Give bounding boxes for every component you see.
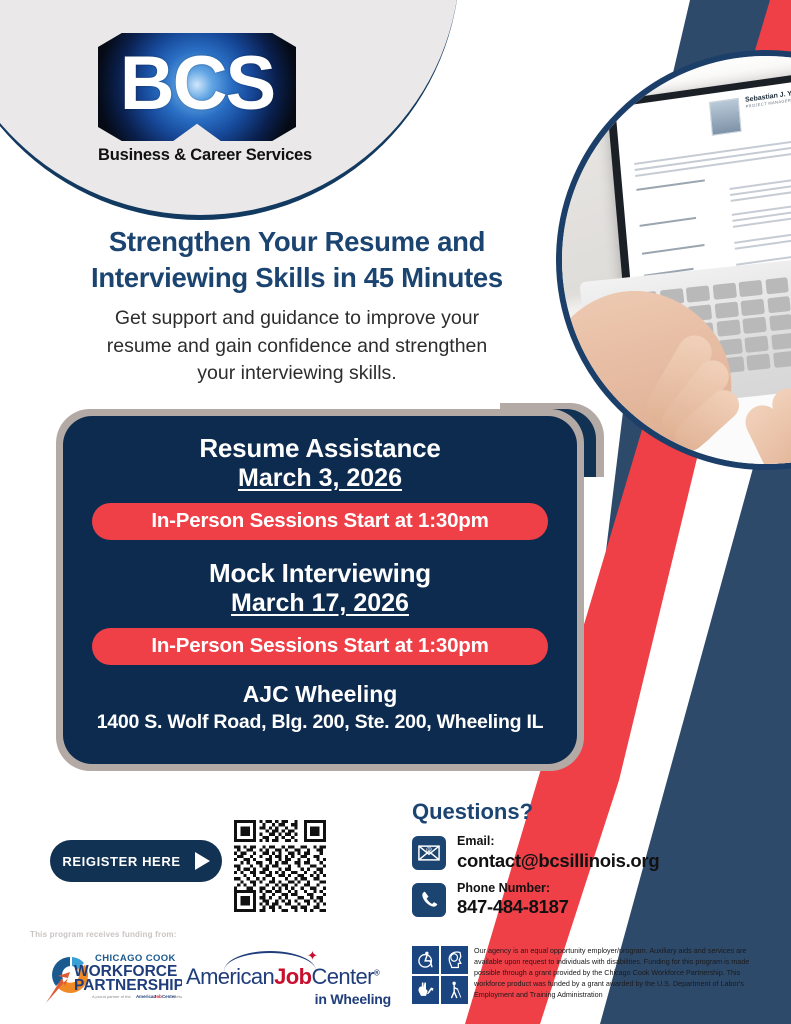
ajc-registered-mark: ® [374, 969, 379, 978]
svg-text:@: @ [426, 846, 432, 854]
event-1-session-badge: In-Person Sessions Start at 1:30pm [92, 503, 548, 540]
hearing-head-icon [441, 946, 468, 974]
headline-line-1: Strengthen Your Resume and [62, 224, 532, 260]
event-2-date: March 17, 2026 [81, 588, 559, 618]
workforce-logo-graphic: CHICAGO COOK WORKFORCE PARTNERSHIP A pro… [32, 945, 182, 1007]
bcs-logo-tagline: Business & Career Services [98, 146, 298, 165]
bcs-logo-mark: BCS [98, 33, 296, 141]
sign-language-icon [412, 976, 439, 1004]
venue-name: AJC Wheeling [81, 681, 559, 708]
event-details-card: Resume Assistance March 3, 2026 In-Perso… [56, 409, 584, 771]
bcs-logo: BCS Business & Career Services [98, 33, 298, 165]
envelope-icon: @ [418, 844, 440, 861]
event-2-session-badge: In-Person Sessions Start at 1:30pm [92, 628, 548, 665]
email-label: Email: [457, 834, 659, 850]
american-job-center-logo: ✦ AmericanJobCenter® in Wheeling [186, 950, 391, 1005]
email-icon: @ [412, 836, 446, 870]
phone-label: Phone Number: [457, 881, 569, 897]
chicago-cook-workforce-partnership-logo: CHICAGO COOK WORKFORCE PARTNERSHIP A pro… [32, 945, 182, 1007]
play-arrow-icon [195, 852, 210, 870]
ajc-swoosh-icon [224, 951, 316, 971]
event-2-title: Mock Interviewing [81, 558, 559, 588]
register-button-label: REIGISTER HERE [62, 854, 180, 869]
phone-contact-row: Phone Number: 847-484-8187 [412, 881, 659, 919]
headline-line-2: Interviewing Skills in 45 Minutes [62, 260, 532, 296]
ajc-star-icon: ✦ [307, 948, 318, 964]
subhead-line-1: Get support and guidance to improve your [72, 305, 522, 333]
svg-text:Job: Job [154, 994, 162, 999]
ajc-location: in Wheeling [186, 991, 391, 1007]
ajc-center: Center [311, 964, 373, 989]
phone-value[interactable]: 847-484-8187 [457, 896, 569, 918]
page-subtitle: Get support and guidance to improve your… [72, 305, 522, 388]
svg-text:A proud partner of the: A proud partner of the [92, 994, 131, 999]
page-title: Strengthen Your Resume and Interviewing … [62, 224, 532, 296]
flyer-page: Sebastian J. Young PROJECT MANAGER ASSIS… [0, 0, 791, 1024]
phone-icon [412, 883, 446, 917]
bcs-logo-text: BCS [120, 46, 274, 122]
laptop-resume-photo: Sebastian J. Young PROJECT MANAGER ASSIS… [556, 50, 791, 470]
white-cane-icon [441, 976, 468, 1004]
workforce-line3: PARTNERSHIP [74, 977, 182, 994]
event-1-title: Resume Assistance [81, 433, 559, 463]
equal-opportunity-disclaimer: Our agency is an equal opportunity emplo… [474, 946, 770, 1001]
telephone-handset-icon [419, 890, 439, 910]
subhead-line-3: your interviewing skills. [72, 360, 522, 388]
subhead-line-2: resume and gain confidence and strengthe… [72, 333, 522, 361]
wheelchair-icon [412, 946, 439, 974]
qr-code-registration[interactable] [234, 820, 326, 912]
email-contact-row: @ Email: contact@bcsillinois.org [412, 834, 659, 872]
svg-text:network: network [174, 994, 182, 999]
register-button[interactable]: REIGISTER HERE [50, 840, 222, 882]
email-value[interactable]: contact@bcsillinois.org [457, 850, 659, 872]
funding-note: This program receives funding from: [30, 930, 177, 939]
venue-address: 1400 S. Wolf Road, Blg. 200, Ste. 200, W… [81, 711, 559, 734]
questions-title: Questions? [412, 799, 659, 825]
questions-section: Questions? @ Email: contact@bcsillinois.… [412, 799, 659, 928]
event-1-date: March 3, 2026 [81, 463, 559, 493]
accessibility-icons [412, 946, 468, 1004]
